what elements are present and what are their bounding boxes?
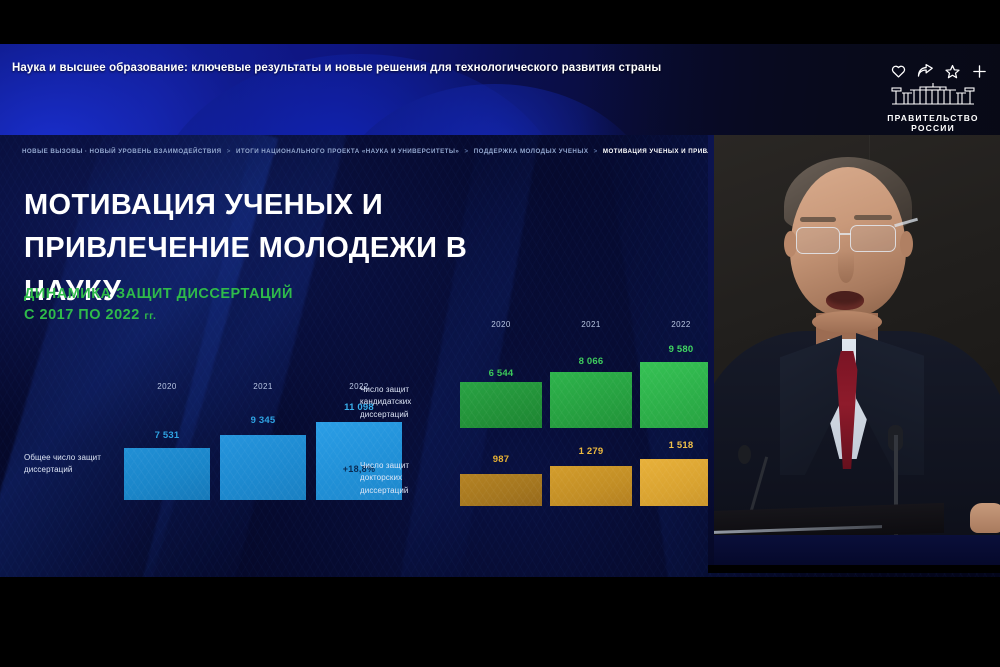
government-building-icon	[890, 82, 976, 111]
bar-year-2020: 2020	[124, 382, 210, 391]
bar-texture	[220, 435, 306, 500]
chart-doctoral-label: Число защит докторских диссертаций	[360, 460, 452, 497]
bar-group-2021: 2021 9 345	[220, 382, 306, 500]
favorite-button[interactable]	[939, 60, 966, 82]
action-toolbar	[885, 60, 993, 82]
slide-subtitle-line-1: ДИНАМИКА ЗАЩИТ ДИССЕРТАЦИЙ	[24, 284, 293, 305]
video-bottom-black	[708, 565, 1000, 573]
bar-group-2021: 2021 8 066	[550, 320, 632, 428]
speaker-ear-right	[900, 231, 913, 257]
video-left-strip	[708, 135, 714, 573]
share-button[interactable]	[912, 60, 939, 82]
bar-texture	[460, 382, 542, 428]
bar-year-2020: 2020	[460, 320, 542, 329]
bar-2020[interactable]	[460, 474, 542, 506]
bar-2021[interactable]	[550, 466, 632, 506]
slide-subtitle-line-2: С 2017 ПО 2022	[24, 307, 140, 323]
bar-2021[interactable]	[550, 372, 632, 428]
speaker-video-inset[interactable]	[708, 135, 1000, 573]
bar-2021[interactable]	[220, 435, 306, 500]
speaker-glasses-bridge	[840, 233, 851, 235]
bar-texture	[550, 372, 632, 428]
bar-texture	[124, 448, 210, 500]
like-button[interactable]	[885, 60, 912, 82]
bar-group-2020: 2020 7 531	[124, 382, 210, 500]
bar-value-2020: 7 531	[124, 430, 210, 441]
bar-2020[interactable]	[460, 382, 542, 428]
banner-title: Наука и высшее образование: ключевые рез…	[12, 62, 661, 74]
heart-icon	[891, 64, 906, 78]
speaker-brow-left	[800, 217, 836, 222]
plus-icon	[972, 64, 987, 79]
speaker-hand	[970, 503, 1000, 533]
chart-candidate-label: Число защит кандидатских диссертаций	[360, 384, 452, 421]
speaker-chin	[812, 311, 882, 333]
speaker-nose	[838, 251, 854, 283]
chart-total-label: Общее число защит диссертаций	[24, 452, 120, 477]
bar-group-2020: 987	[460, 440, 542, 506]
bar-value-2021: 1 279	[550, 446, 632, 457]
slide-subtitle: ДИНАМИКА ЗАЩИТ ДИССЕРТАЦИЙ С 2017 ПО 202…	[24, 284, 293, 325]
breadcrumb-separator: >	[464, 148, 468, 155]
star-icon	[945, 64, 960, 79]
government-logo-text: ПРАВИТЕЛЬСТВО РОССИИ	[887, 114, 978, 133]
breadcrumb: НОВЫЕ ВЫЗОВЫ · НОВЫЙ УРОВЕНЬ ВЗАИМОДЕЙСТ…	[22, 148, 816, 155]
slide-subtitle-line-2-wrap: С 2017 ПО 2022 гг.	[24, 305, 293, 326]
breadcrumb-item-0[interactable]: НОВЫЕ ВЫЗОВЫ · НОВЫЙ УРОВЕНЬ ВЗАИМОДЕЙСТ…	[22, 148, 222, 155]
bar-value-2021: 9 345	[220, 415, 306, 426]
screen: Наука и высшее образование: ключевые рез…	[0, 0, 1000, 667]
breadcrumb-separator: >	[227, 148, 231, 155]
speaker-glasses-right	[850, 225, 896, 252]
chart-total-dissertations: Общее число защит диссертаций 2020 7 531…	[24, 382, 344, 500]
breadcrumb-item-1[interactable]: ИТОГИ НАЦИОНАЛЬНОГО ПРОЕКТА «НАУКА И УНИ…	[236, 148, 459, 155]
add-button[interactable]	[966, 60, 993, 82]
bar-group-2021: 1 279	[550, 440, 632, 506]
chart-doctoral-dissertations: Число защит докторских диссертаций 987 1…	[360, 440, 680, 506]
share-icon	[917, 64, 934, 78]
logo-line-2: РОССИИ	[887, 124, 978, 134]
bar-texture	[550, 466, 632, 506]
bar-texture	[460, 474, 542, 506]
speaker-glasses-left	[796, 227, 840, 254]
slide-subtitle-suffix: гг.	[144, 310, 156, 322]
chart-candidate-dissertations: Число защит кандидатских диссертаций 202…	[360, 320, 680, 428]
bar-year-2021: 2021	[550, 320, 632, 329]
bar-value-2020: 987	[460, 454, 542, 465]
government-logo: ПРАВИТЕЛЬСТВО РОССИИ	[878, 82, 988, 133]
microphone-head-left	[738, 445, 751, 464]
page-banner	[0, 44, 1000, 135]
bar-value-2020: 6 544	[460, 368, 542, 379]
breadcrumb-separator: >	[594, 148, 598, 155]
bar-group-2020: 2020 6 544	[460, 320, 542, 428]
bar-year-2021: 2021	[220, 382, 306, 391]
video-bottom-strip	[708, 535, 1000, 569]
speaker-mouth	[826, 291, 864, 310]
bar-2020[interactable]	[124, 448, 210, 500]
speaker-brow-right	[854, 215, 892, 220]
breadcrumb-item-2[interactable]: ПОДДЕРЖКА МОЛОДЫХ УЧЕНЫХ	[474, 148, 589, 155]
bar-value-2021: 8 066	[550, 356, 632, 367]
